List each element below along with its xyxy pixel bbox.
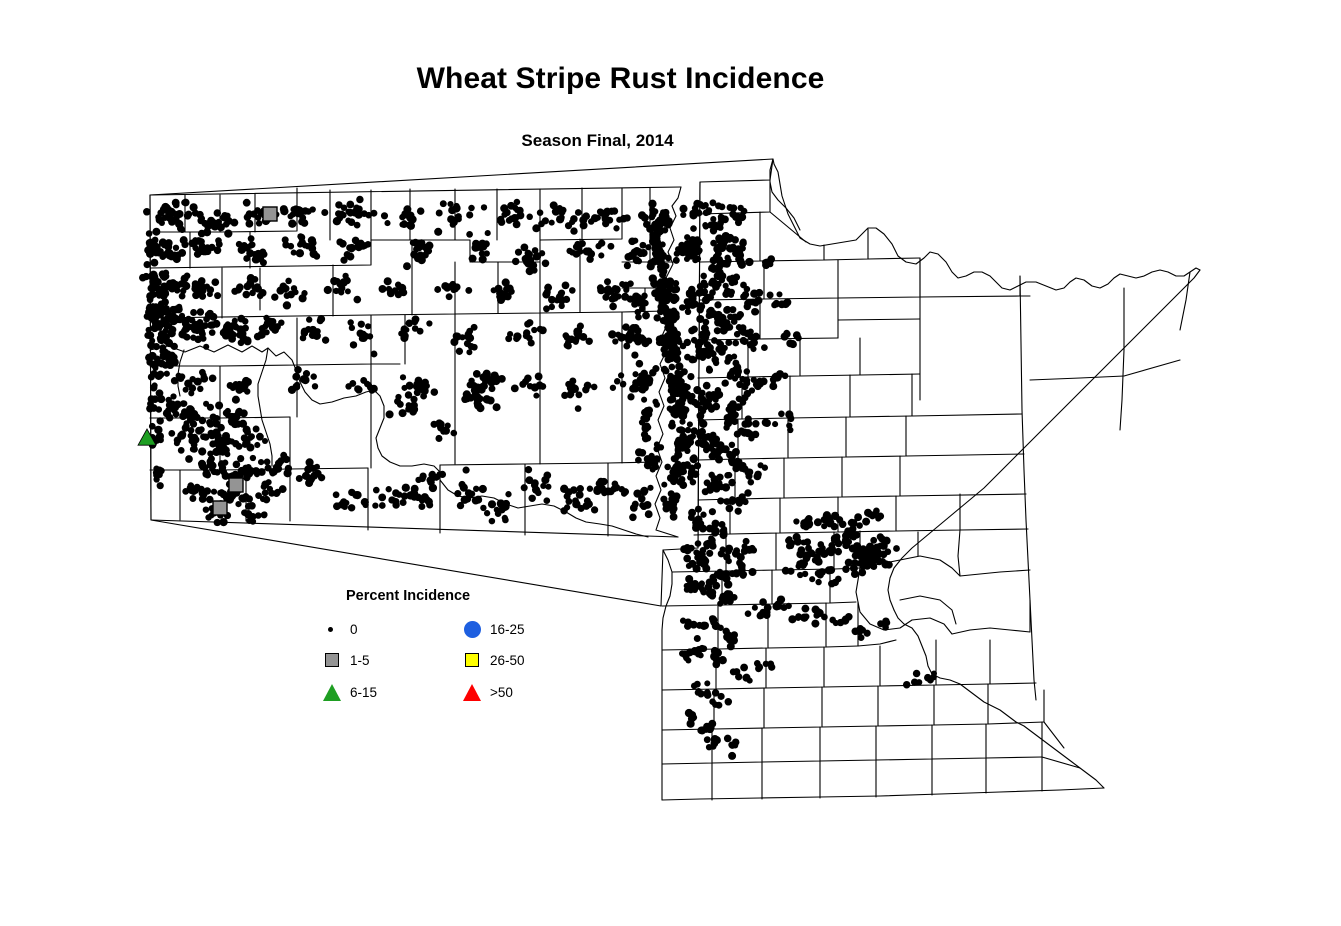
data-point-zero: [188, 390, 194, 396]
legend-item-0[interactable]: 0: [310, 620, 440, 640]
small-black-dot-icon: [322, 620, 344, 640]
data-point-zero: [664, 214, 670, 220]
data-point-zero: [348, 218, 356, 226]
data-point-zero: [233, 461, 241, 469]
data-point-zero: [144, 332, 151, 339]
data-point-zero: [653, 455, 661, 463]
mn-county-t14-6: [932, 724, 986, 759]
data-point-zero: [656, 335, 663, 342]
data-point-zero: [656, 229, 663, 236]
yellow-square-icon: [462, 651, 484, 671]
data-point-zero: [348, 489, 355, 496]
data-point-zero: [688, 509, 696, 517]
data-point-zero: [744, 368, 751, 375]
data-point-zero: [869, 513, 875, 519]
data-point-zero: [601, 490, 607, 496]
data-point-zero: [842, 565, 850, 573]
data-point-zero: [631, 351, 638, 358]
data-point-zero: [671, 455, 678, 462]
data-point-zero: [372, 502, 378, 508]
data-point-zero: [243, 199, 251, 207]
data-point-zero: [333, 491, 340, 498]
data-point-zero: [691, 326, 698, 333]
data-point-zero: [854, 513, 862, 521]
data-point-zero: [204, 224, 211, 231]
data-point-zero: [166, 206, 173, 213]
data-point-zero: [535, 373, 542, 380]
data-point-zero: [687, 373, 694, 380]
data-point-zero: [668, 422, 676, 430]
data-point-zero: [688, 286, 696, 294]
data-point-zero: [708, 279, 715, 286]
data-point-zero: [725, 631, 732, 638]
data-point-zero: [483, 395, 490, 402]
gray-square-icon: [322, 651, 344, 671]
data-point-zero: [211, 489, 217, 495]
data-point-zero: [772, 373, 779, 380]
data-point-zero: [273, 490, 280, 497]
data-point-zero: [727, 373, 734, 380]
data-point-zero: [353, 204, 360, 211]
data-point-zero: [689, 210, 696, 217]
data-point-zero: [681, 368, 688, 375]
data-point-zero: [732, 249, 740, 257]
data-point-zero: [314, 470, 322, 478]
data-point-zero: [257, 331, 265, 339]
data-point-zero: [440, 200, 447, 207]
data-point-zero: [288, 220, 296, 228]
data-point-zero: [597, 208, 604, 215]
data-point-zero: [680, 212, 686, 218]
data-point-zero: [609, 303, 617, 311]
data-point-zero: [565, 222, 572, 229]
data-point-zero: [232, 318, 238, 324]
data-point-zero: [190, 446, 196, 452]
data-point-zero: [292, 383, 300, 391]
data-point-zero: [672, 285, 680, 293]
data-point-zero: [310, 373, 316, 379]
data-point-zero: [165, 213, 173, 221]
data-point-zero: [373, 487, 380, 494]
data-point-zero: [335, 210, 342, 217]
data-point-zero: [720, 527, 728, 535]
data-point-zero: [156, 417, 163, 424]
mn-county-t11-4: [826, 646, 858, 647]
data-point-zero: [498, 218, 505, 225]
data-point-zero: [728, 752, 736, 760]
data-point-zero: [426, 320, 432, 326]
data-point-zero: [166, 323, 172, 329]
data-point-zero: [283, 301, 291, 309]
data-point-zero: [253, 426, 260, 433]
data-point-zero: [290, 211, 296, 217]
data-point-zero: [308, 245, 316, 253]
data-point-zero: [244, 283, 252, 291]
data-point-zero: [434, 228, 442, 236]
data-point-zero: [538, 221, 545, 228]
data-point-zero: [740, 245, 746, 251]
data-point-zero: [640, 336, 646, 342]
data-point-zero: [715, 455, 723, 463]
data-point-zero: [233, 324, 239, 330]
data-point-zero: [174, 400, 182, 408]
data-point-zero: [723, 260, 731, 268]
data-point-zero: [345, 288, 351, 294]
data-point-zero: [870, 537, 877, 544]
data-point-zero: [660, 241, 666, 247]
mn-metro-4: [952, 628, 1030, 634]
data-point-zero: [512, 258, 519, 265]
data-point-zero: [343, 500, 349, 506]
data-point-zero: [580, 221, 588, 229]
data-point-zero: [545, 484, 551, 490]
data-point-zero: [862, 518, 870, 526]
data-point-zero: [244, 510, 252, 518]
data-point-zero: [198, 277, 206, 285]
data-point-zero: [491, 287, 497, 293]
data-point-zero: [342, 273, 348, 279]
data-point-zero: [617, 334, 625, 342]
data-point-zero: [653, 235, 660, 242]
legend-label-26-50: 26-50: [490, 651, 525, 671]
data-point-zero: [655, 218, 661, 224]
data-point-zero: [711, 740, 717, 746]
data-point-zero: [420, 393, 427, 400]
data-point-zero: [214, 292, 221, 299]
data-point-zero: [719, 277, 726, 284]
data-point-zero: [306, 476, 314, 484]
data-point-zero: [740, 337, 747, 344]
data-point-zero: [279, 286, 286, 293]
data-point-zero: [744, 286, 750, 292]
data-point-zero: [691, 683, 698, 690]
data-point-zero: [835, 576, 842, 583]
data-point-zero: [793, 331, 801, 339]
data-point-zero: [402, 484, 410, 492]
data-point-zero: [285, 465, 292, 472]
data-point-zero: [692, 470, 700, 478]
data-point-zero: [250, 455, 256, 461]
data-point-zero: [767, 261, 773, 267]
mn-county-t4-4: [800, 375, 860, 376]
data-point-zero: [798, 559, 805, 566]
data-point-zero: [238, 246, 246, 254]
data-point-zero: [207, 450, 213, 456]
data-point-zero: [317, 315, 325, 323]
data-point-zero: [267, 486, 273, 492]
data-point-zero: [404, 212, 410, 218]
data-point-zero: [704, 689, 711, 696]
mn-county-t14-8: [1042, 757, 1080, 768]
mn-county-t6-4: [788, 417, 846, 458]
data-point-zero: [224, 437, 232, 445]
data-point-zero: [853, 542, 861, 550]
data-point-zero: [782, 300, 790, 308]
data-point-zero: [742, 674, 750, 682]
data-point-zero: [719, 595, 726, 602]
data-point-zero: [849, 533, 856, 540]
data-point-zero: [884, 548, 891, 555]
data-point-zero: [608, 208, 615, 215]
data-point-zero: [752, 420, 759, 427]
mn-county-t13-9: [1044, 722, 1064, 748]
data-point-zero: [696, 412, 704, 420]
data-point-zero: [787, 427, 793, 433]
data-point-zero: [597, 286, 605, 294]
data-point-zero: [203, 344, 209, 350]
data-point-zero: [179, 293, 186, 300]
data-point-zero: [772, 421, 778, 427]
data-point-zero: [182, 282, 190, 290]
data-point-zero: [602, 220, 609, 227]
data-point-zero: [549, 304, 555, 310]
data-point-zero: [694, 635, 701, 642]
data-point-zero: [564, 493, 571, 500]
data-point-zero: [356, 196, 363, 203]
data-point-zero: [729, 306, 736, 313]
data-point-zero: [659, 265, 665, 271]
data-point-zero: [729, 570, 736, 577]
data-point-zero: [384, 277, 392, 285]
legend-item-gt50[interactable]: >50: [450, 683, 580, 703]
data-point-zero: [723, 283, 729, 289]
data-point-zero: [670, 293, 678, 301]
data-point-zero: [562, 282, 570, 290]
data-point-zero: [841, 616, 849, 624]
data-point-zero: [530, 262, 537, 269]
data-point-zero: [692, 524, 700, 532]
data-point-zero: [480, 505, 486, 511]
data-point-zero: [778, 410, 785, 417]
data-point-zero: [713, 528, 720, 535]
data-point-zero: [493, 375, 501, 383]
data-point-zero: [706, 367, 713, 374]
data-point-zero: [719, 240, 727, 248]
mn-county-t13-3: [764, 687, 822, 728]
data-point-zero: [180, 432, 186, 438]
data-point-zero: [735, 403, 742, 410]
data-point-zero: [198, 230, 206, 238]
data-point-zero: [681, 650, 689, 658]
data-point-zero: [466, 211, 473, 218]
data-point-zero: [336, 281, 343, 288]
data-point-zero: [893, 545, 900, 552]
data-point-zero: [668, 490, 675, 497]
data-point-zero: [523, 329, 530, 336]
mn-county-t7-4: [784, 457, 842, 498]
legend-item-1-5[interactable]: 1-5: [310, 651, 440, 671]
data-point-zero: [628, 237, 636, 245]
legend-item-16-25[interactable]: 16-25: [450, 620, 580, 640]
data-point-zero: [650, 466, 656, 472]
data-point-zero: [646, 225, 654, 233]
data-point-zero: [215, 401, 223, 409]
mn-county-t7-6: [900, 494, 1026, 496]
data-point-zero: [690, 479, 696, 485]
data-point-zero: [235, 408, 243, 416]
data-point-zero: [591, 384, 598, 391]
data-point-zero: [426, 501, 433, 508]
data-point-zero: [882, 617, 890, 625]
data-point-zero: [611, 294, 619, 302]
data-point-zero: [153, 465, 159, 471]
data-point-zero: [259, 249, 266, 256]
data-point-zero: [607, 488, 615, 496]
mn-county-t14-4: [820, 726, 876, 761]
data-point-zero: [161, 298, 169, 306]
data-point-zero: [526, 214, 533, 221]
data-point-zero: [227, 382, 234, 389]
data-point-zero: [543, 497, 550, 504]
data-point-zero: [158, 433, 164, 439]
data-point-zero: [720, 546, 726, 552]
data-point-zero: [831, 523, 838, 530]
data-point-zero: [493, 403, 501, 411]
data-point-zero: [755, 665, 762, 672]
data-point-zero: [753, 472, 761, 480]
data-point-zero: [695, 540, 702, 547]
data-point-zero: [428, 472, 434, 478]
data-point-zero: [659, 282, 667, 290]
data-point-zero: [153, 476, 159, 482]
data-point-zero: [370, 385, 378, 393]
data-point-zero: [346, 244, 353, 251]
data-point-zero: [349, 380, 356, 387]
data-point-zero: [849, 525, 856, 532]
data-point-zero: [189, 376, 195, 382]
map-canvas: [0, 0, 1341, 926]
data-point-zero: [181, 408, 189, 416]
data-point-zero: [214, 519, 221, 526]
data-point-zero: [787, 415, 794, 422]
data-point-zero: [378, 494, 386, 502]
data-point-zero: [724, 580, 732, 588]
data-point-zero: [386, 410, 394, 418]
data-point-zero: [911, 678, 918, 685]
mn-county-t7-5: [842, 456, 900, 497]
data-point-zero: [216, 241, 223, 248]
mn-v-lake: [1120, 288, 1124, 430]
data-point-zero: [446, 293, 453, 300]
data-point-zero: [434, 286, 441, 293]
data-point-zero: [560, 207, 567, 214]
data-point-zero: [815, 558, 823, 566]
data-point-zero: [716, 271, 723, 278]
data-point-zero: [652, 250, 659, 257]
data-point-zero: [749, 568, 757, 576]
data-point-zero: [292, 373, 300, 381]
data-point-zero: [604, 278, 611, 285]
data-point-zero: [386, 486, 392, 492]
data-point-zero: [278, 319, 284, 325]
data-point-zero: [577, 485, 584, 492]
data-point-zero: [732, 367, 738, 373]
data-point-zero: [199, 489, 207, 497]
data-point-zero: [392, 287, 399, 294]
data-point-zero: [811, 620, 819, 628]
data-point-square-1-5: [213, 501, 227, 515]
data-point-zero: [456, 348, 463, 355]
data-point-zero: [669, 364, 676, 371]
data-point-zero: [209, 313, 217, 321]
data-point-zero: [349, 325, 355, 331]
data-point-zero: [468, 205, 475, 212]
data-point-zero: [737, 553, 745, 561]
legend-label-gt50: >50: [490, 683, 513, 703]
data-point-zero: [627, 296, 634, 303]
data-point-zero: [455, 213, 462, 220]
data-point-zero: [152, 365, 158, 371]
data-point-zero: [205, 514, 212, 521]
data-point-zero: [627, 393, 634, 400]
data-point-zero: [348, 504, 355, 511]
data-point-zero: [513, 335, 520, 342]
mn-county-t5-4: [790, 375, 850, 418]
data-point-zero: [247, 435, 253, 441]
data-point-zero: [630, 504, 638, 512]
data-point-zero: [527, 383, 533, 389]
data-point-zero: [815, 579, 821, 585]
data-point-zero: [444, 285, 451, 292]
data-point-zero: [738, 562, 746, 570]
data-point-zero: [242, 468, 250, 476]
data-point-zero: [322, 337, 329, 344]
data-point-zero: [671, 505, 677, 511]
data-point-zero: [245, 211, 252, 218]
data-point-zero: [535, 490, 542, 497]
data-point-zero: [407, 493, 413, 499]
mn-county-t2-4: [838, 258, 920, 298]
data-point-zero: [645, 510, 653, 518]
data-point-zero: [292, 289, 298, 295]
data-point-zero: [173, 216, 180, 223]
data-point-zero: [300, 375, 308, 383]
data-point-zero: [640, 249, 648, 257]
data-point-zero: [218, 461, 226, 469]
data-point-zero: [726, 505, 734, 513]
data-point-zero: [607, 243, 614, 250]
data-point-zero: [249, 290, 256, 297]
legend-item-6-15[interactable]: 6-15: [310, 683, 440, 703]
legend-item-26-50[interactable]: 26-50: [450, 651, 580, 671]
data-point-zero: [775, 600, 782, 607]
data-point-zero: [193, 484, 200, 491]
data-point-zero: [265, 464, 272, 471]
data-point-zero: [848, 519, 855, 526]
data-point-zero: [706, 344, 714, 352]
data-point-zero: [661, 366, 668, 373]
data-point-zero: [211, 278, 219, 286]
data-point-zero: [724, 735, 732, 743]
data-point-zero: [882, 624, 889, 631]
data-point-zero: [700, 203, 707, 210]
data-point-zero: [258, 468, 266, 476]
data-point-zero: [569, 377, 576, 384]
data-point-zero: [261, 511, 267, 517]
data-point-zero: [188, 239, 196, 247]
data-point-zero: [224, 229, 232, 237]
data-point-zero: [474, 393, 482, 401]
data-point-zero: [673, 404, 679, 410]
data-point-zero: [223, 409, 230, 416]
data-point-zero: [357, 330, 365, 338]
data-point-zero: [172, 254, 179, 261]
data-point-zero: [259, 289, 267, 297]
data-point-zero: [585, 500, 593, 508]
data-point-zero: [716, 474, 723, 481]
data-point-zero: [732, 276, 738, 282]
data-point-zero: [194, 414, 201, 421]
